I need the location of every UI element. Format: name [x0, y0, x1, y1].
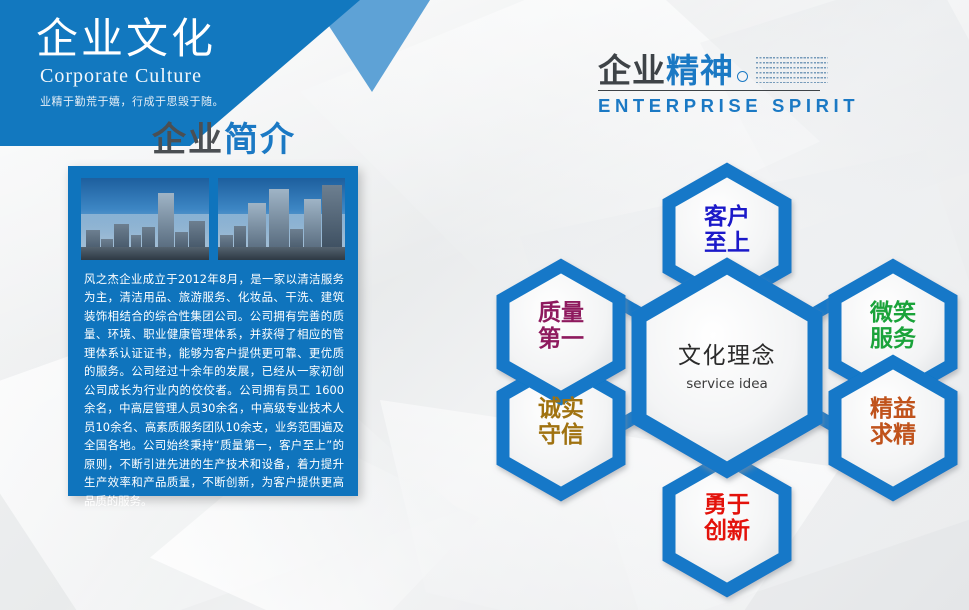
spirit-heading: 企业精神 ENTERPRISE SPIRIT [598, 54, 938, 117]
photo-strip [81, 178, 345, 260]
hex-bottom-right [835, 362, 951, 494]
company-intro-card: 风之杰企业成立于2012年8月，是一家以清洁服务为主，清洁用品、旅游服务、化妆品… [68, 166, 358, 496]
intro-heading-blue: 简介 [224, 121, 296, 159]
center-title-en: service idea [639, 376, 815, 392]
spirit-heading-en: ENTERPRISE SPIRIT [598, 95, 938, 117]
spirit-heading-dark: 企业 [598, 52, 666, 89]
banner-title-cn: 企业文化 [36, 18, 336, 63]
cityscape-photo-right [218, 178, 346, 260]
cityscape-photo-left [81, 178, 209, 260]
intro-heading-dark: 企业 [152, 121, 224, 159]
center-title-cn: 文化理念 [639, 336, 815, 370]
heading-underline [598, 90, 820, 91]
circle-dot-icon [737, 71, 748, 82]
hex-top-left [503, 266, 619, 398]
decorative-microtext [756, 57, 828, 83]
poster-canvas: 企业文化 Corporate Culture 业精于勤荒于嬉，行成于思毁于随。 … [0, 0, 969, 610]
company-intro-text: 风之杰企业成立于2012年8月，是一家以清洁服务为主，清洁用品、旅游服务、化妆品… [84, 270, 344, 510]
spirit-heading-blue: 精神 [666, 52, 734, 89]
culture-hexagon-diagram: 客户 至上 微笑 服务 精益 求精 勇于 创新 诚实 守信 质量 第一 文化理念… [485, 118, 969, 610]
intro-heading: 企业简介 [152, 112, 296, 161]
